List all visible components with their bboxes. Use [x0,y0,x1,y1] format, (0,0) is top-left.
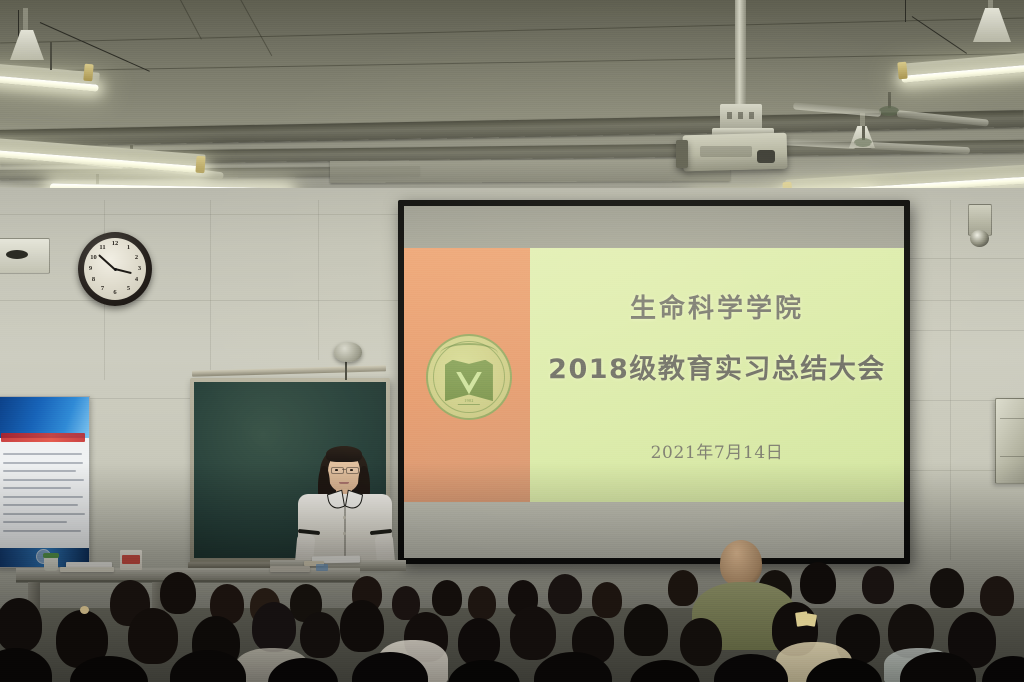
cabinet-line [1000,456,1024,457]
light-end-cap [897,62,907,80]
university-emblem-icon: 1902 [426,334,512,420]
emblem-year: 1902 [464,398,474,403]
wall-speaker [334,342,362,362]
audience-head [548,574,582,614]
projection-screen: 1902 生命科学学院 2018级教育实习总结大会 2021年7月14日 [398,200,910,564]
projector-grille [700,146,752,157]
presenter-fringe [326,446,362,462]
glasses-bridge [342,469,346,470]
slide-heading: 生命科学学院 [630,288,804,325]
audience-head [128,608,178,664]
desk-object [316,564,328,571]
wall-joint [318,200,319,360]
audience-head [468,586,496,620]
red-label [122,555,140,564]
wall-clock: 12 1 2 3 4 5 6 7 8 9 10 11 [78,232,152,306]
audience-head [510,606,556,660]
audience-head [458,618,500,666]
wall-joint [900,330,1024,331]
wall-joint [210,200,211,370]
clock-hour-hand [115,268,132,274]
counter-papers [270,566,310,572]
audience-head [680,618,722,666]
security-camera [970,230,989,247]
light-end-cap [195,156,205,174]
audience-head [252,602,296,652]
audience-head [800,562,836,604]
wall-joint [0,214,400,215]
light-end-cap [83,64,93,82]
hanging-wire [905,0,906,22]
projector-lens [757,150,775,163]
audience-head [668,570,698,606]
ceiling-soffit [330,159,730,183]
audience-head [300,612,340,658]
clock-minute-hand [98,254,115,270]
slide-right-panel: 生命科学学院 2018级教育实习总结大会 2021年7月14日 [530,248,904,502]
slide-left-panel: 1902 [404,248,530,502]
audience-head-bald [720,540,762,586]
cup-lid [43,553,59,558]
audience-head-front [0,648,52,682]
hair-clip [805,613,817,627]
audience-head [930,568,964,608]
light-rod [50,42,52,70]
projector-side [676,140,688,168]
audience-head [980,576,1014,616]
audience-head [432,580,462,616]
classroom-photo: 12 1 2 3 4 5 6 7 8 9 10 11 [0,0,1024,682]
audience-head [624,604,668,656]
audience-head [592,582,622,618]
slide-date: 2021年7月14日 [651,438,784,463]
projector-vent [749,112,754,119]
projector-vent [727,112,732,119]
paper-cup [44,556,58,571]
wall-cabinet [995,398,1024,484]
audience-head [0,598,42,652]
audience-head [862,566,894,604]
wall-regulations-poster [0,396,90,568]
slide-subheading: 2018级教育实习总结大会 [548,347,886,386]
audience-head [160,572,196,614]
audience-head-front [448,660,520,682]
audience-head [340,600,384,652]
wall-device-vent [6,250,28,259]
projector-vent [738,112,743,119]
wall-joint [900,258,1024,259]
counter-papers [60,567,114,572]
hair-clip [80,606,89,614]
projector-pole [735,0,746,108]
cabinet-line [1000,418,1024,419]
wall-joint [950,200,951,560]
slide-content: 1902 生命科学学院 2018级教育实习总结大会 2021年7月14日 [404,248,904,502]
